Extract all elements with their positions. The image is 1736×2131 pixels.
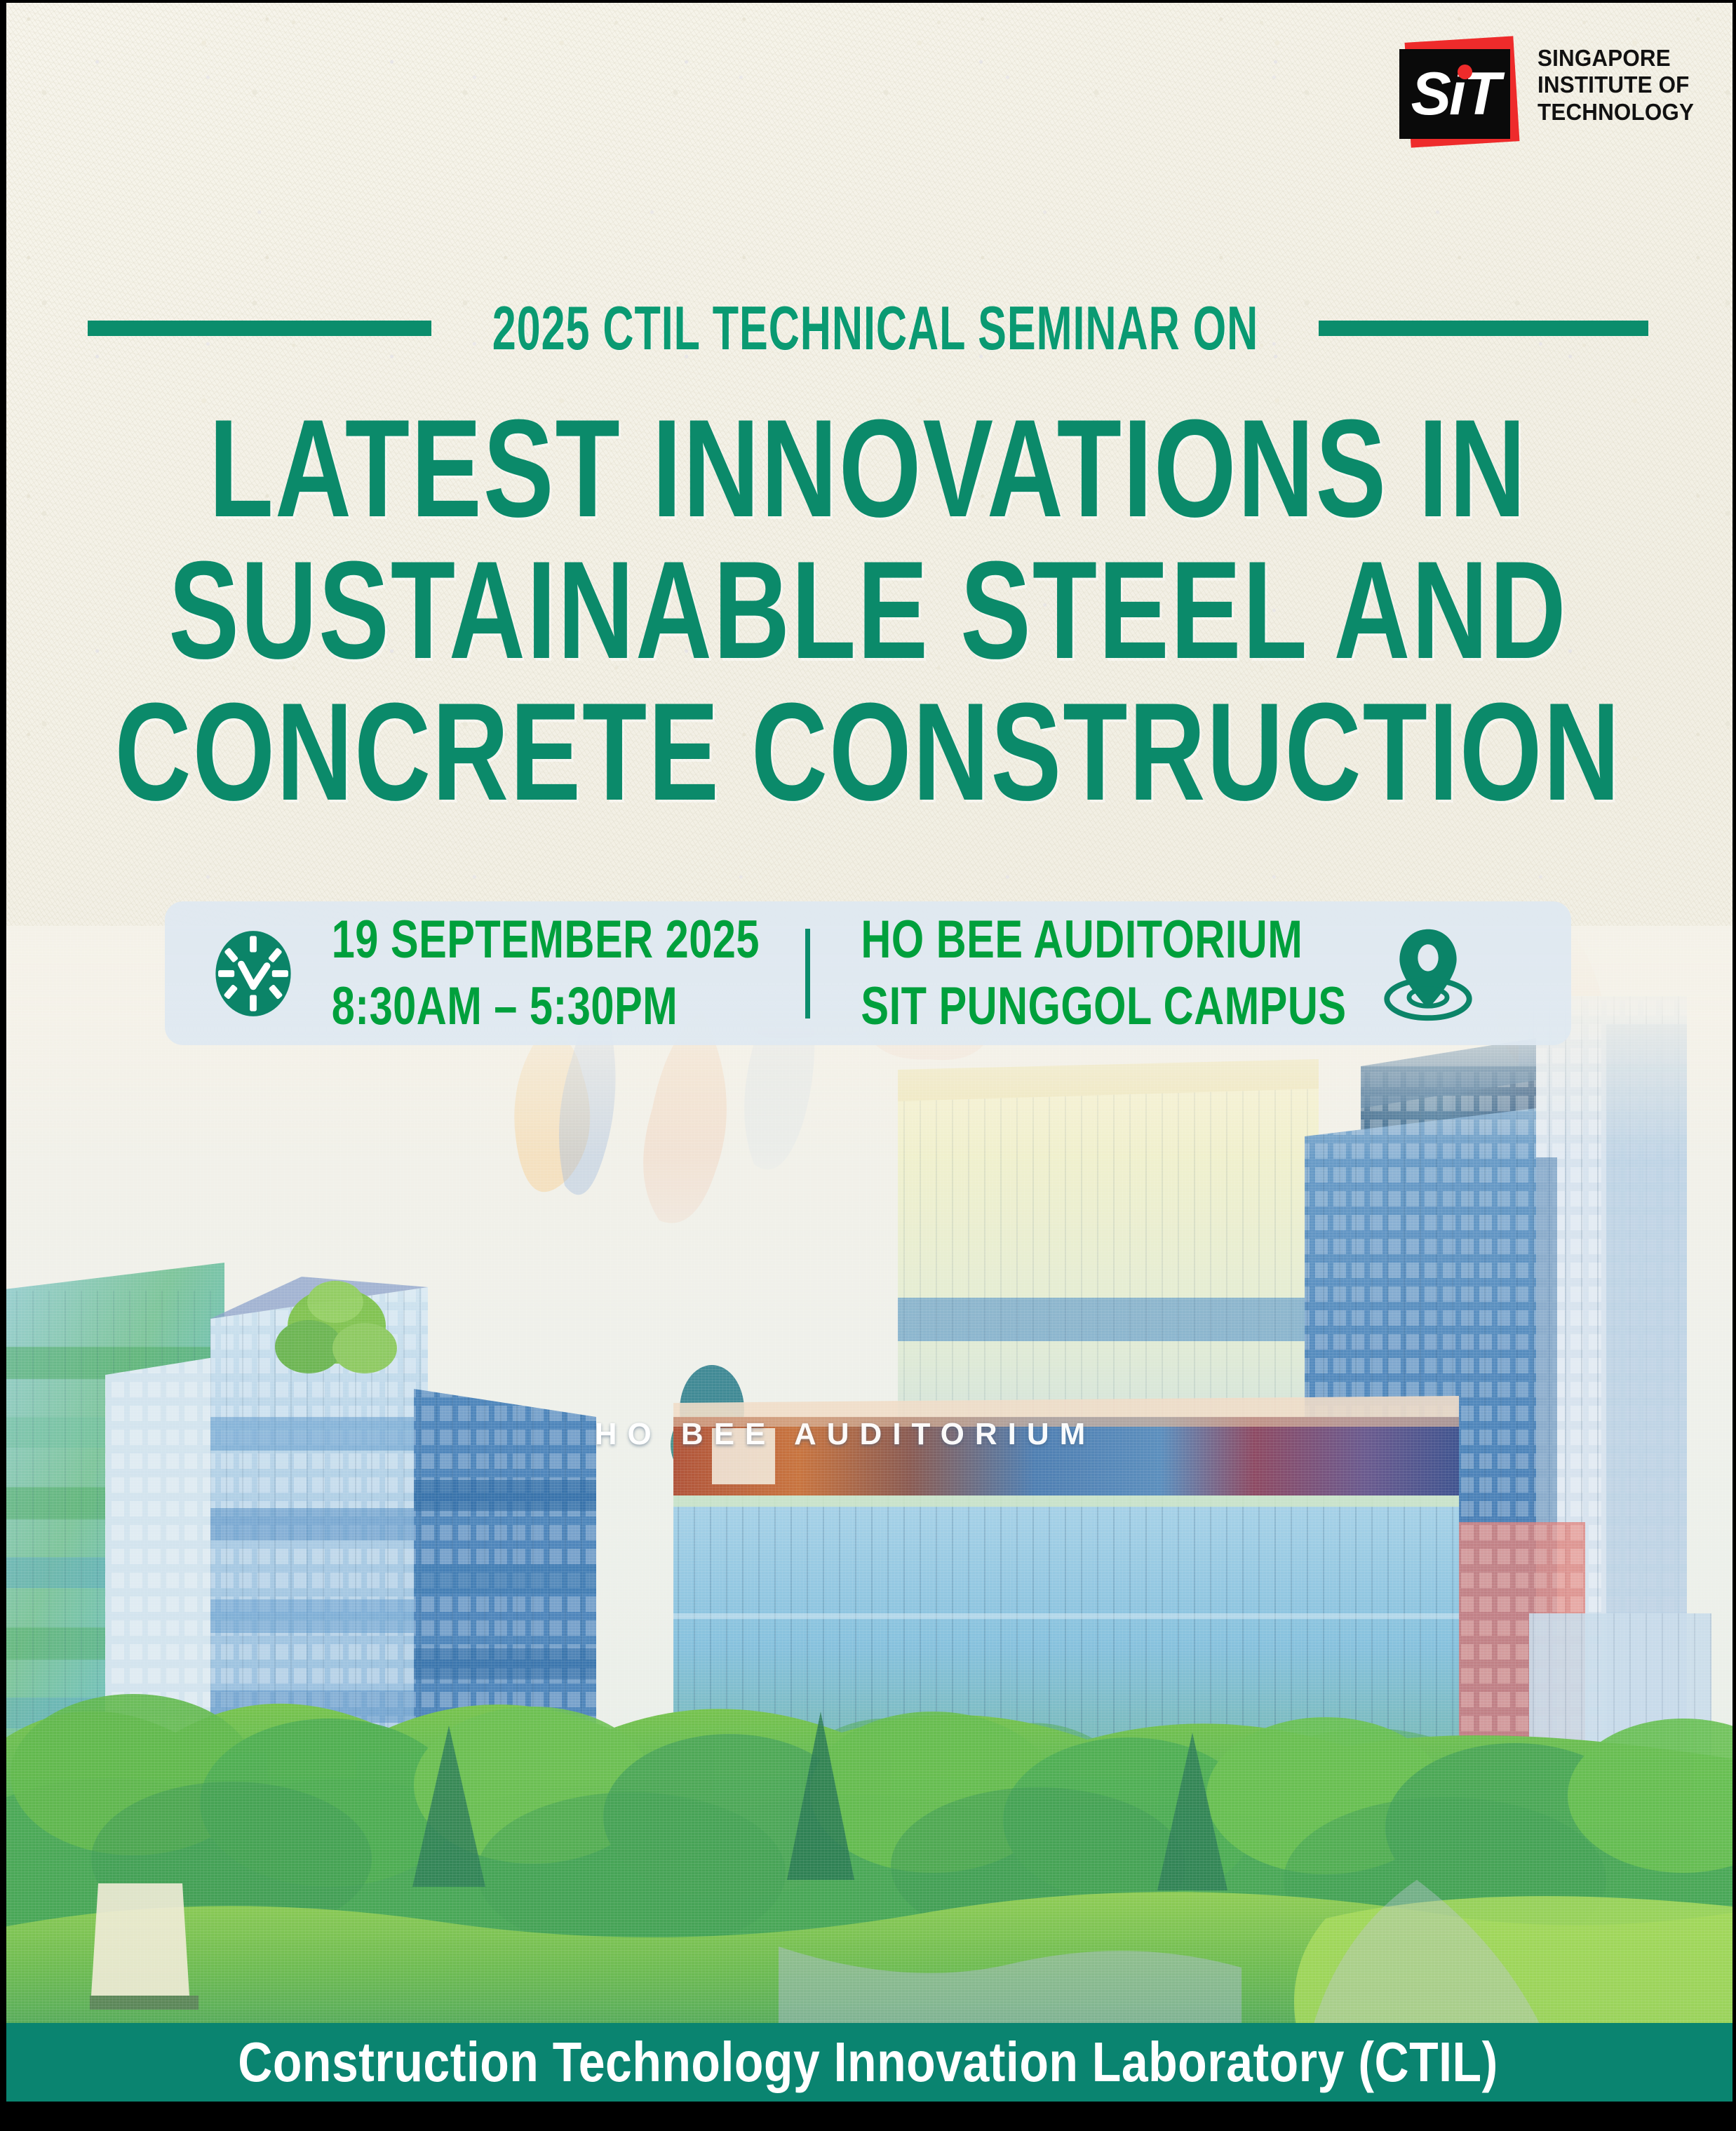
kicker-rule-left [88,321,431,336]
event-time: 8:30AM – 5:30PM [332,974,760,1040]
top-edge-strip [0,0,1736,3]
logo-word-line2: INSTITUTE OF [1537,72,1694,98]
info-divider [805,929,810,1019]
kicker-rule-right [1319,321,1648,336]
bottom-black-strip [0,2102,1736,2131]
sit-logo-wordmark: SINGAPORE INSTITUTE OF TECHNOLOGY [1537,39,1694,126]
clock-icon [210,927,296,1021]
watercolor-campus-illustration [0,926,1736,2024]
venue-text: HO BEE AUDITORIUM SIT PUNGGOL CAMPUS [861,906,1346,1040]
seminar-kicker: 2025 CTIL TECHNICAL SEMINAR ON [0,304,1736,352]
location-pin-icon [1380,925,1476,1023]
venue-campus: SIT PUNGGOL CAMPUS [861,974,1346,1040]
footer-bar: Construction Technology Innovation Labor… [0,2023,1736,2102]
logo-word-line1: SINGAPORE [1537,45,1694,72]
kicker-label: 2025 CTIL TECHNICAL SEMINAR ON [492,297,1258,359]
date-time-text: 19 SEPTEMBER 2025 8:30AM – 5:30PM [332,906,760,1040]
sit-logo: SiT SINGAPORE INSTITUTE OF TECHNOLOGY [1399,39,1702,148]
title-line-3: CONCRETE CONSTRUCTION [0,658,1736,848]
logo-word-line3: TECHNOLOGY [1537,99,1694,126]
logo-red-dot [1458,65,1472,79]
footer-label: Construction Technology Innovation Labor… [238,2034,1498,2090]
page-title: LATEST INNOVATIONS IN SUSTAINABLE STEEL … [0,398,1736,824]
building-signage-text: HO BEE AUDITORIUM [595,1417,1096,1452]
seminar-poster: HO BEE AUDITORIUM SiT SINGAPORE INSTITUT… [0,0,1736,2131]
event-details-bar: 19 SEPTEMBER 2025 8:30AM – 5:30PM HO BEE… [165,901,1571,1045]
event-date: 19 SEPTEMBER 2025 [332,906,760,973]
right-edge-strip [1732,0,1736,2131]
venue-name: HO BEE AUDITORIUM [861,906,1346,973]
left-edge-strip [0,0,6,2131]
venue-block: HO BEE AUDITORIUM SIT PUNGGOL CAMPUS [810,919,1476,1028]
date-time-block: 19 SEPTEMBER 2025 8:30AM – 5:30PM [165,919,769,1028]
sit-logo-mark: SiT [1399,39,1522,148]
logo-sit-text: SiT [1399,49,1510,139]
